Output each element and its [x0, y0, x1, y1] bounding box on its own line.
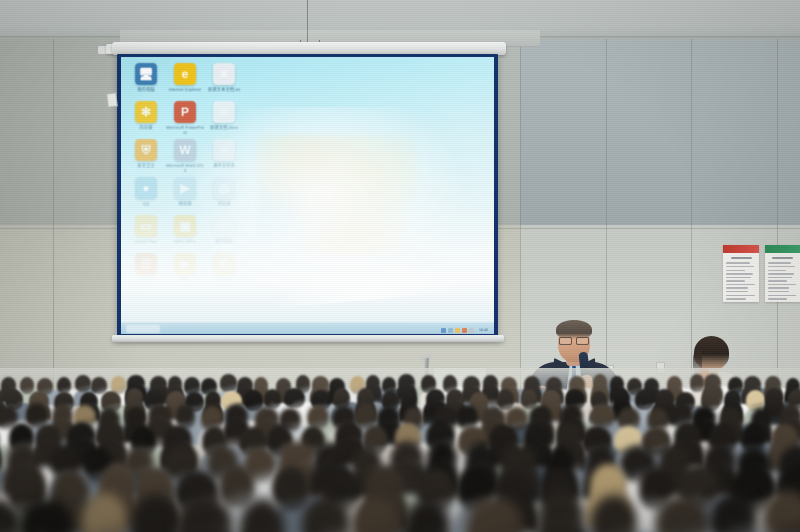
projected-desktop: 🖥我的电脑eInternet Explorer≡新建文本文档.txt✻向日葵PM…: [121, 57, 494, 334]
lecture-hall-photo: 🖥我的电脑eInternet Explorer≡新建文本文档.txt✻向日葵PM…: [0, 0, 800, 532]
computer-icon-glyph: 🖥: [135, 63, 157, 85]
desktop-icon-label: 新建文本文档.txt: [205, 87, 243, 92]
file-icon-glyph: ≡: [213, 139, 235, 161]
audience-member-head: [307, 405, 330, 429]
document-icon-glyph: ≡: [213, 101, 235, 123]
wall-seam: [691, 32, 692, 400]
poster-text-line: [726, 298, 746, 299]
wall-seam: [520, 32, 521, 400]
internet-explorer-icon[interactable]: eInternet Explorer: [166, 63, 204, 92]
projector-screen-bottom-bar: [112, 335, 504, 342]
desktop-icon-label: 新建文档.docx: [205, 125, 243, 130]
sunflower-folder-icon-glyph: ✻: [135, 101, 157, 123]
audience-member-head: [273, 467, 309, 511]
desktop-icon-label: 向日葵: [127, 125, 165, 130]
audience-member-head: [20, 377, 35, 394]
shield-antivirus-icon-glyph: ⛨: [135, 139, 157, 161]
tray-network-icon[interactable]: [441, 328, 446, 333]
poster-text-line: [726, 291, 748, 292]
word-icon[interactable]: WMicrosoft Word 2013: [166, 139, 204, 173]
wall-seam: [777, 32, 778, 400]
wall-seam: [606, 32, 607, 400]
windows-taskbar[interactable]: 10:42: [121, 322, 494, 334]
poster-header: [765, 245, 800, 253]
internet-explorer-icon-glyph: e: [174, 63, 196, 85]
tray-volume-icon[interactable]: [448, 328, 453, 333]
browser-icon[interactable]: ◎浏览器: [205, 177, 243, 206]
poster-text-line: [726, 270, 745, 271]
wall-seam: [53, 38, 54, 400]
desktop-icon-label: QQ: [127, 201, 165, 206]
audience-member-head: [590, 404, 615, 428]
taskbar-clock: 10:42: [479, 328, 488, 332]
poster-text-line: [726, 266, 754, 267]
sunflower-folder-icon[interactable]: ✻向日葵: [127, 101, 165, 130]
browser-icon-glyph: ◎: [213, 177, 235, 199]
poster-text-line: [726, 295, 755, 296]
audience-member-head: [635, 389, 654, 409]
text-document-icon[interactable]: ≡新建文本文档.txt: [205, 63, 243, 92]
ceiling-wire: [307, 0, 308, 42]
text-document-icon-glyph: ≡: [213, 63, 235, 85]
poster-text-line: [768, 266, 795, 267]
poster-text-line: [726, 284, 755, 285]
poster-text-line: [726, 287, 748, 288]
poster-body: [765, 253, 800, 302]
poster-body: [723, 253, 759, 300]
poster-text-line: [768, 262, 791, 263]
document-icon[interactable]: ≡新建文档.docx: [205, 101, 243, 130]
desktop-icon-label: Microsoft PowerPoint: [166, 125, 204, 135]
tray-app-icon[interactable]: [462, 328, 467, 333]
shield-antivirus-icon[interactable]: ⛨安全卫士: [127, 139, 165, 168]
computer-icon[interactable]: 🖥我的电脑: [127, 63, 165, 92]
projection-screen[interactable]: 🖥我的电脑eInternet Explorer≡新建文本文档.txt✻向日葵PM…: [117, 54, 498, 338]
powerpoint-icon[interactable]: PMicrosoft PowerPoint: [166, 101, 204, 135]
word-icon-glyph: W: [174, 139, 196, 161]
poster-text-line: [768, 270, 786, 271]
system-tray[interactable]: 10:42: [441, 328, 488, 333]
poster-text-line: [768, 295, 796, 296]
start-button[interactable]: [126, 325, 160, 333]
desktop-icon-label: 播放器: [166, 201, 204, 206]
poster-text-line: [768, 287, 789, 288]
poster-green-notice[interactable]: [765, 245, 800, 302]
audience-member-head: [219, 464, 256, 508]
audience-member-head: [220, 374, 237, 391]
glasses-icon: [559, 337, 589, 343]
seated-audience: [0, 368, 800, 532]
poster-text-line: [726, 280, 745, 281]
audience-member-head: [497, 389, 514, 409]
desktop-icon-label: 我的电脑: [127, 87, 165, 92]
desktop-icon-label: 浏览器: [205, 201, 243, 206]
audience-member-head: [284, 388, 304, 408]
tray-shield-icon[interactable]: [455, 328, 460, 333]
video-player-icon-glyph: ▶: [174, 177, 196, 199]
audience-member-head: [690, 374, 704, 391]
qq-icon-glyph: ●: [135, 177, 157, 199]
file-icon[interactable]: ≡课件文件夹: [205, 139, 243, 168]
poster-text-line: [768, 284, 796, 285]
poster-text-line: [768, 280, 787, 281]
qq-icon[interactable]: ●QQ: [127, 177, 165, 206]
desktop-icon-label: Internet Explorer: [166, 87, 204, 92]
poster-text-line: [768, 277, 792, 278]
poster-text-line: [768, 291, 789, 292]
poster-text-line: [726, 273, 753, 274]
poster-text-line: [726, 262, 750, 263]
poster-text-line: [768, 298, 787, 299]
powerpoint-icon-glyph: P: [174, 101, 196, 123]
poster-text-line: [768, 273, 794, 274]
audience-member-head: [75, 375, 91, 392]
desktop-icon-label: 安全卫士: [127, 163, 165, 168]
audience-member-head: [91, 377, 108, 394]
wall-label-tag: [106, 92, 118, 107]
video-player-icon[interactable]: ▶播放器: [166, 177, 204, 206]
poster-text-line: [726, 277, 751, 278]
desktop-icon-label: 课件文件夹: [205, 163, 243, 168]
poster-header: [723, 245, 759, 253]
tray-input-icon[interactable]: [469, 328, 474, 333]
desktop-icon-label: Microsoft Word 2013: [166, 163, 204, 173]
poster-red-notice[interactable]: [723, 245, 759, 302]
